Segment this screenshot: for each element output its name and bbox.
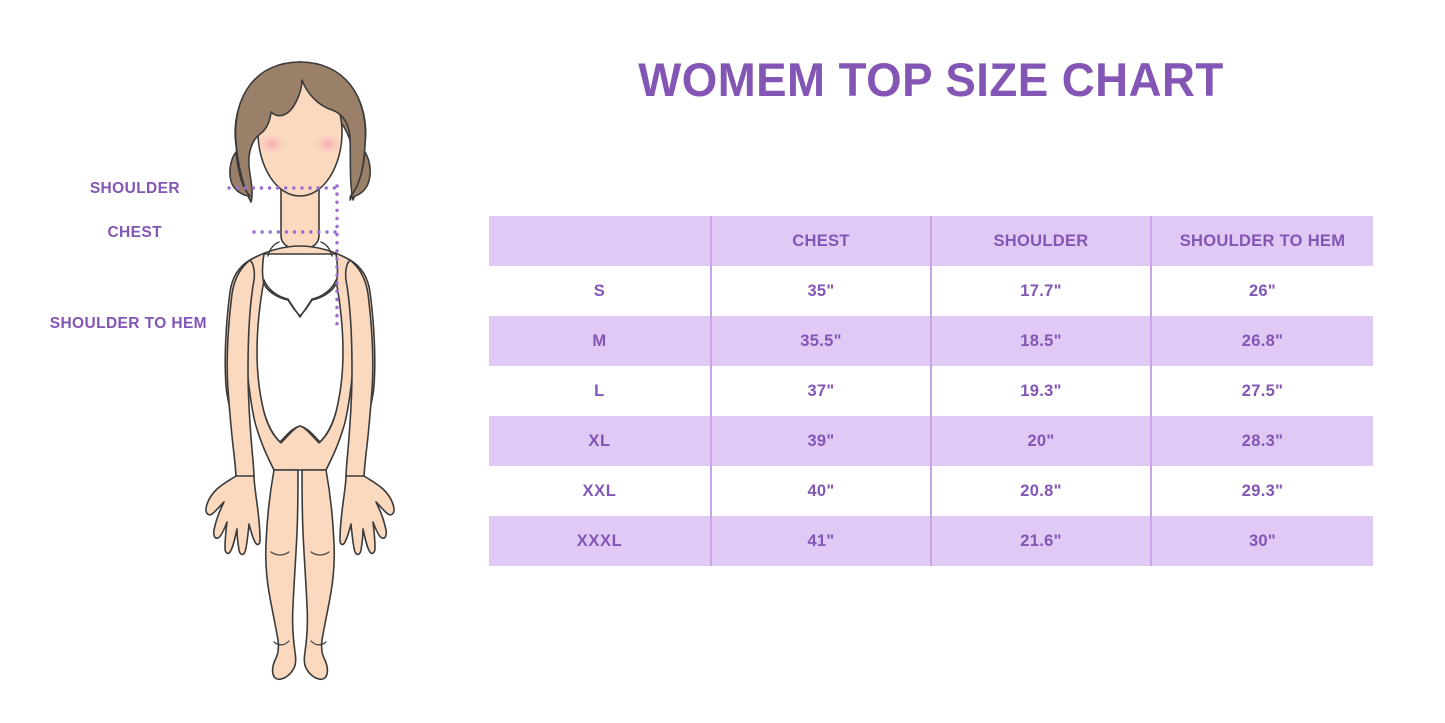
blush-left: [258, 133, 286, 155]
table-row: L 37" 19.3" 27.5": [489, 366, 1373, 416]
cell-chest: 41": [711, 516, 931, 566]
cell-shoulder: 17.7": [931, 266, 1151, 316]
table-row: M 35.5" 18.5" 26.8": [489, 316, 1373, 366]
cell-size: XL: [489, 416, 711, 466]
cell-shoulder: 21.6": [931, 516, 1151, 566]
column-header-shoulder-to-hem: SHOULDER TO HEM: [1151, 216, 1373, 266]
cell-size: M: [489, 316, 711, 366]
column-header-size: [489, 216, 711, 266]
cell-shoulder: 20": [931, 416, 1151, 466]
page-title: WOMEM TOP SIZE CHART: [502, 52, 1359, 107]
shoulder-to-hem-measurement-label: SHOULDER TO HEM: [0, 315, 207, 333]
neck: [281, 188, 319, 250]
size-chart-table: CHEST SHOULDER SHOULDER TO HEM S 35" 17.…: [489, 216, 1373, 566]
table-row: XXXL 41" 21.6" 30": [489, 516, 1373, 566]
hand-left: [206, 476, 260, 554]
cell-size: XXL: [489, 466, 711, 516]
cell-shoulder-to-hem: 30": [1151, 516, 1373, 566]
cell-shoulder-to-hem: 28.3": [1151, 416, 1373, 466]
table-row: S 35" 17.7" 26": [489, 266, 1373, 316]
table-header-row: CHEST SHOULDER SHOULDER TO HEM: [489, 216, 1373, 266]
cell-shoulder-to-hem: 27.5": [1151, 366, 1373, 416]
female-body-illustration: [150, 40, 450, 700]
size-chart-table-container: CHEST SHOULDER SHOULDER TO HEM S 35" 17.…: [489, 216, 1373, 566]
column-header-chest: CHEST: [711, 216, 931, 266]
bodysuit: [257, 254, 343, 442]
cell-chest: 40": [711, 466, 931, 516]
cell-chest: 37": [711, 366, 931, 416]
column-header-shoulder: SHOULDER: [931, 216, 1151, 266]
table-row: XL 39" 20" 28.3": [489, 416, 1373, 466]
blush-right: [314, 133, 342, 155]
cell-chest: 35": [711, 266, 931, 316]
cell-shoulder-to-hem: 26.8": [1151, 316, 1373, 366]
cell-chest: 35.5": [711, 316, 931, 366]
cell-chest: 39": [711, 416, 931, 466]
table-row: XXL 40" 20.8" 29.3": [489, 466, 1373, 516]
cell-shoulder: 18.5": [931, 316, 1151, 366]
cell-size: XXXL: [489, 516, 711, 566]
leg-right: [302, 470, 334, 679]
cell-size: S: [489, 266, 711, 316]
chest-measurement-label: CHEST: [0, 224, 162, 242]
cell-shoulder: 20.8": [931, 466, 1151, 516]
shoulder-measurement-label: SHOULDER: [0, 180, 180, 198]
cell-shoulder-to-hem: 29.3": [1151, 466, 1373, 516]
cell-shoulder: 19.3": [931, 366, 1151, 416]
cell-shoulder-to-hem: 26": [1151, 266, 1373, 316]
hand-right: [340, 476, 394, 554]
cell-size: L: [489, 366, 711, 416]
leg-left: [266, 470, 298, 679]
